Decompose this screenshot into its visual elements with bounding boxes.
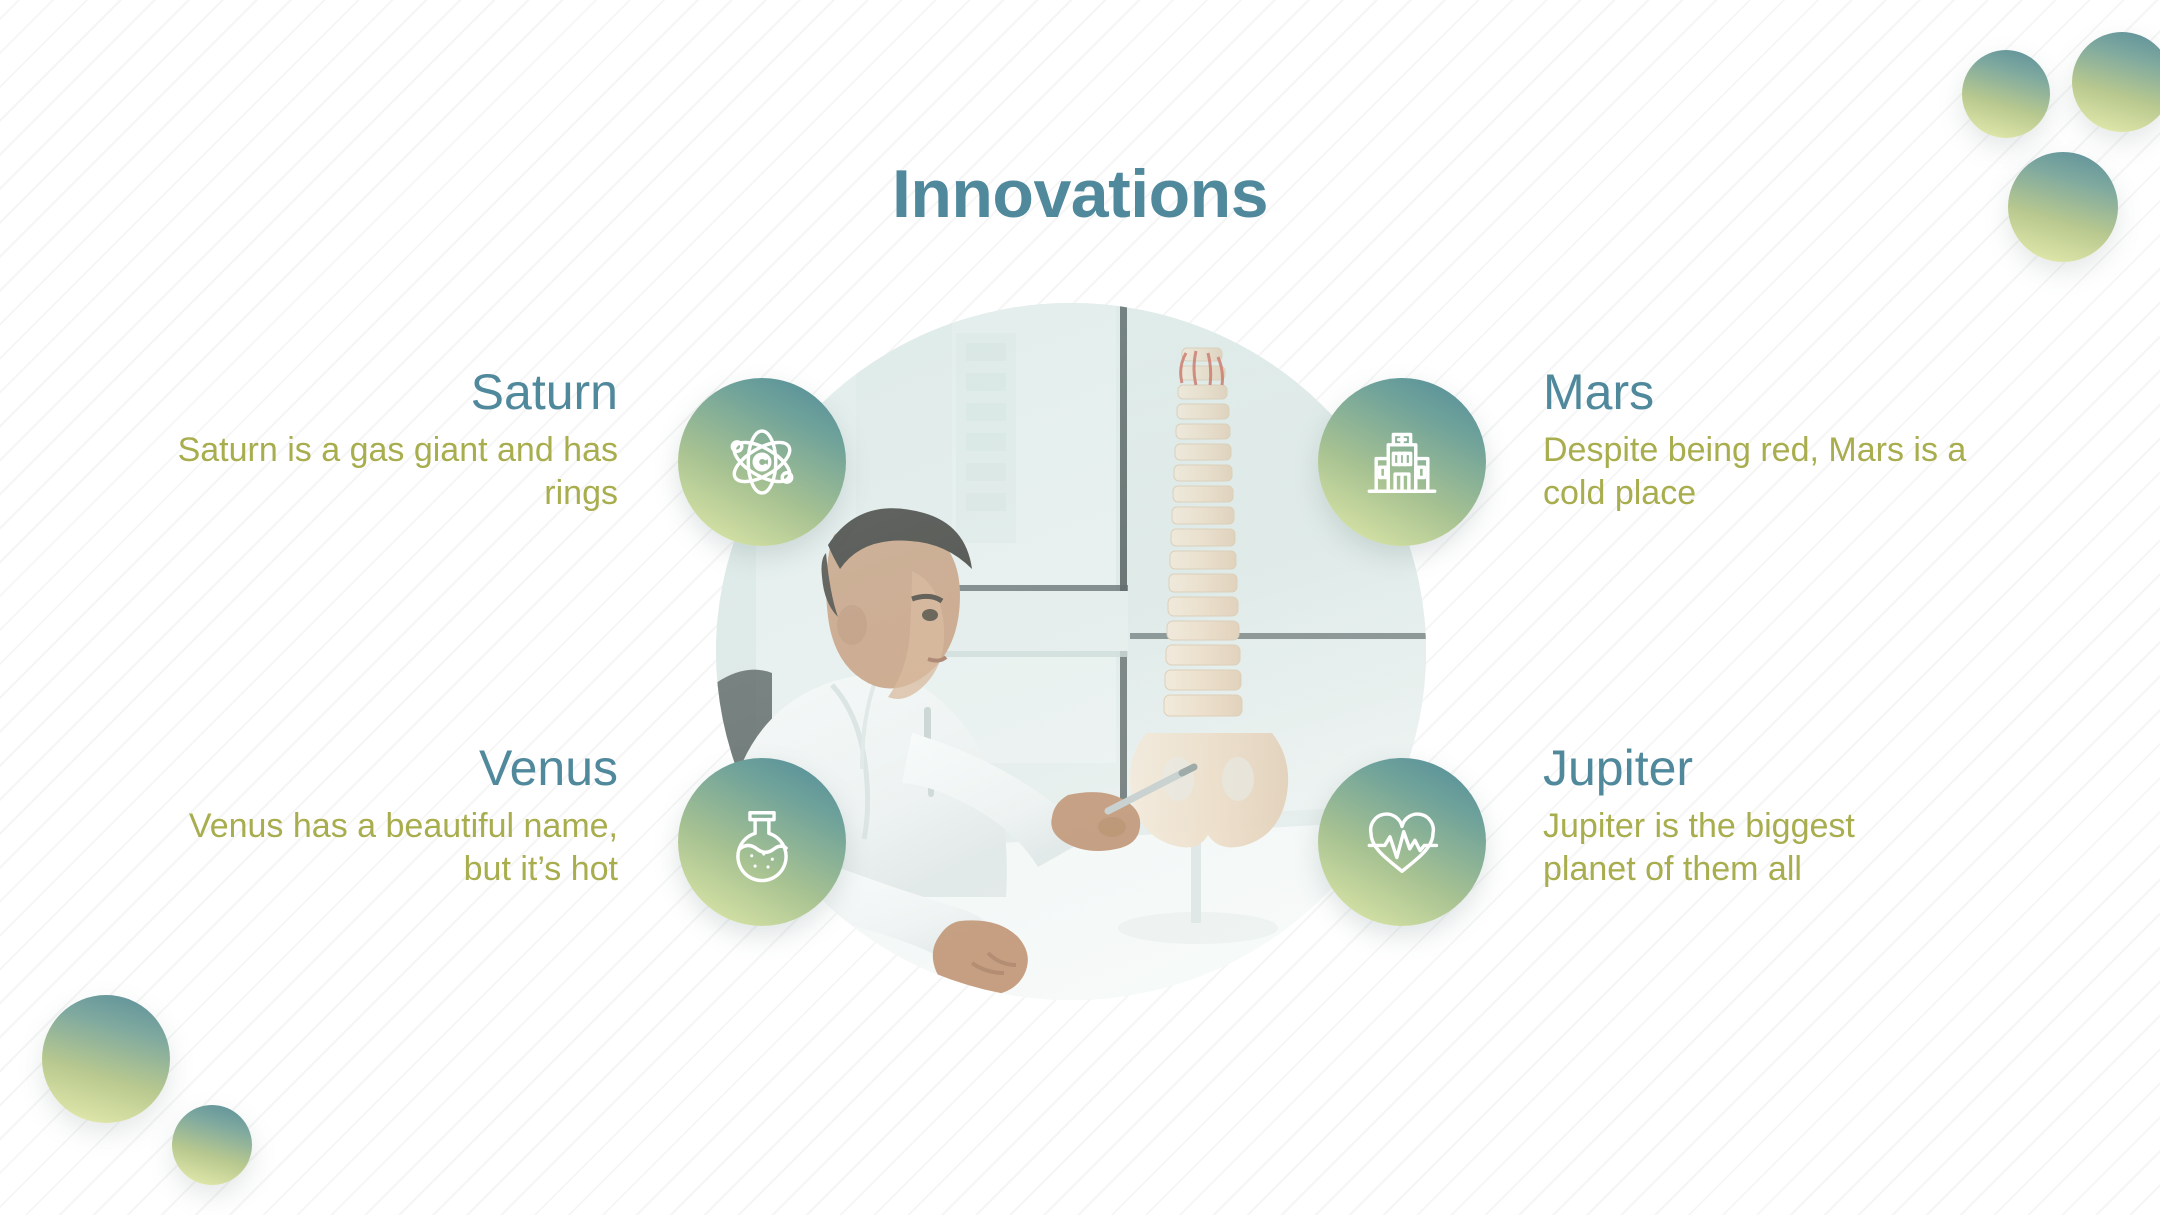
- flask-icon: [719, 799, 805, 885]
- icon-bubble-saturn[interactable]: [678, 378, 846, 546]
- presentation-slide: Innovations: [0, 0, 2160, 1215]
- icon-bubble-venus[interactable]: [678, 758, 846, 926]
- text-block-mars: Mars Despite being red, Mars is a cold p…: [1543, 366, 2013, 516]
- text-block-venus: Venus Venus has a beautiful name, but it…: [138, 742, 618, 892]
- text-block-jupiter: Jupiter Jupiter is the biggest planet of…: [1543, 742, 1943, 892]
- heading-saturn: Saturn: [158, 366, 618, 419]
- decorative-circle-bottom-left-2: [172, 1105, 252, 1185]
- heading-jupiter: Jupiter: [1543, 742, 1943, 795]
- decorative-circle-bottom-left-1: [42, 995, 170, 1123]
- body-jupiter: Jupiter is the biggest planet of them al…: [1543, 805, 1943, 892]
- atom-icon: [719, 419, 805, 505]
- heartbeat-icon: [1359, 799, 1445, 885]
- icon-bubble-jupiter[interactable]: [1318, 758, 1486, 926]
- decorative-circle-top-right-2: [2072, 32, 2160, 132]
- decorative-circle-top-right-1: [1962, 50, 2050, 138]
- icon-bubble-mars[interactable]: [1318, 378, 1486, 546]
- body-mars: Despite being red, Mars is a cold place: [1543, 429, 2013, 516]
- body-venus: Venus has a beautiful name, but it’s hot: [138, 805, 618, 892]
- slide-title: Innovations: [0, 155, 2160, 233]
- heading-venus: Venus: [138, 742, 618, 795]
- body-saturn: Saturn is a gas giant and has rings: [158, 429, 618, 516]
- hospital-icon: [1359, 419, 1445, 505]
- heading-mars: Mars: [1543, 366, 2013, 419]
- text-block-saturn: Saturn Saturn is a gas giant and has rin…: [158, 366, 618, 516]
